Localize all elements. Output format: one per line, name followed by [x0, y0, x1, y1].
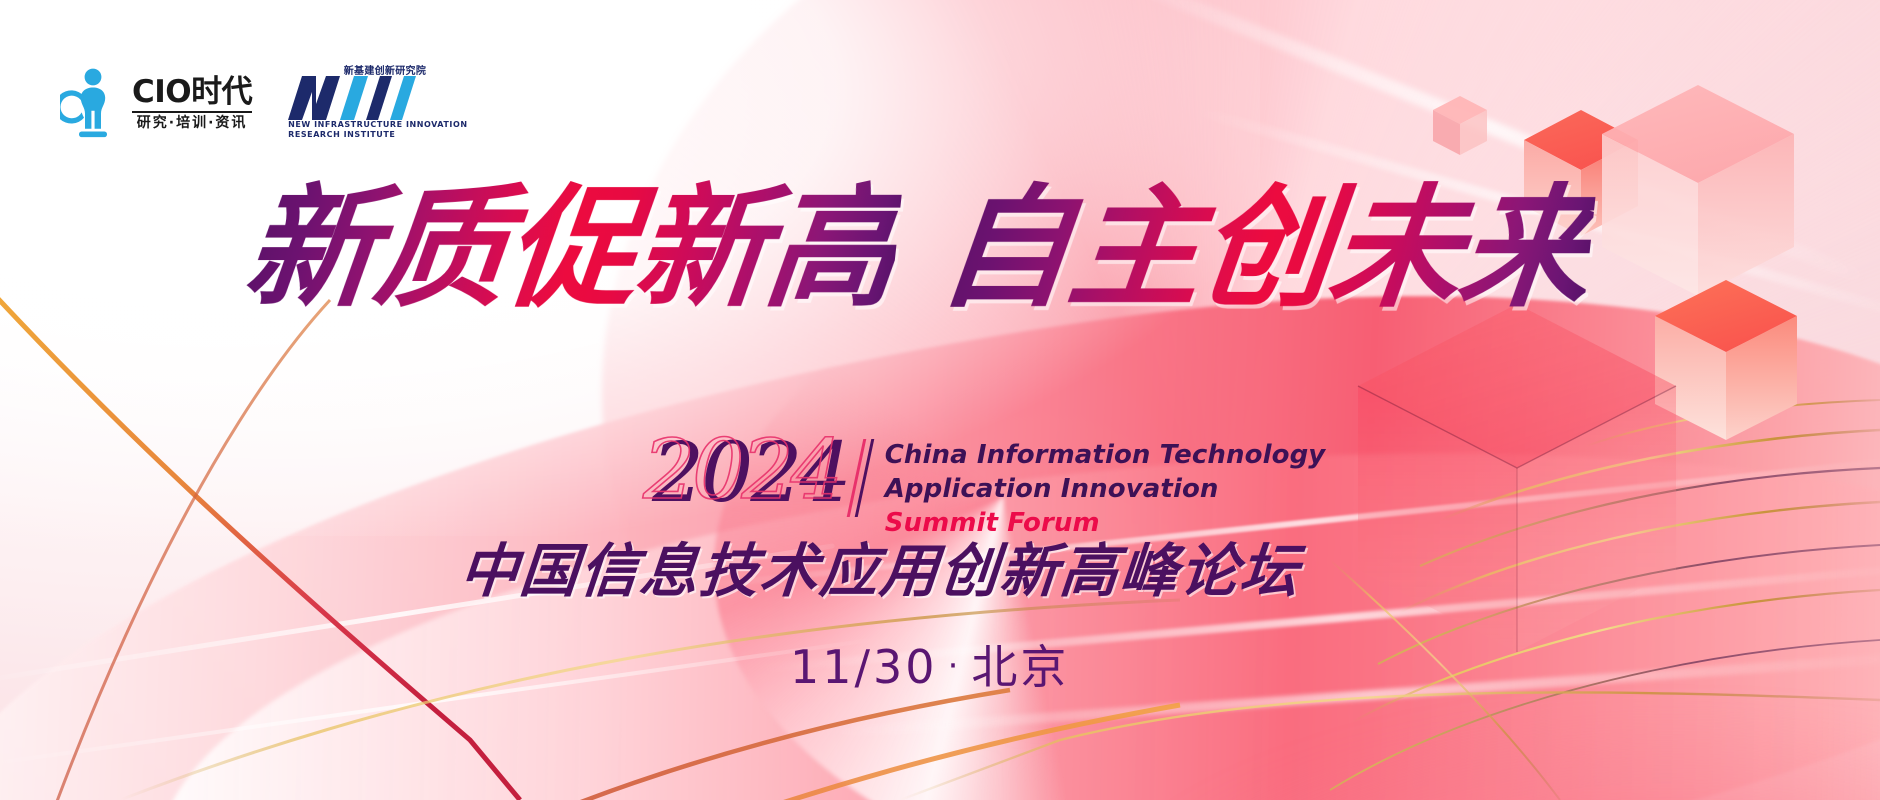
date-location: 11/30·北京 — [790, 644, 1069, 690]
event-city: 北京 — [971, 640, 1069, 694]
cio-subtitle: 研究·培训·资讯 — [137, 115, 248, 132]
niiri-english-name: NEW INFRASTRUCTURE INNOVATION RESEARCH I… — [288, 120, 467, 140]
niiri-english-line-1: NEW INFRASTRUCTURE INNOVATION — [288, 120, 467, 130]
logo-group: CIO时代 研究·培训·资讯 新基建创新研究院 NEW INFRASTRUCTU… — [60, 62, 426, 140]
cio-title: CIO时代 — [132, 77, 252, 108]
niiri-logo[interactable]: 新基建创新研究院 NEW INFRASTRUCTURE INNOVATION R… — [286, 62, 426, 140]
year-echo-outline: 2024 — [643, 432, 840, 511]
year-and-english-title: 2024 2024 China Information Technology A… — [652, 435, 1325, 540]
english-title-line-2: Application Innovation — [885, 473, 1326, 507]
niiri-english-line-2: RESEARCH INSTITUTE — [288, 130, 467, 140]
year-label: 2024 2024 — [652, 435, 849, 514]
event-banner: CIO时代 研究·培训·资讯 新基建创新研究院 NEW INFRASTRUCTU… — [0, 0, 1880, 800]
date-separator: · — [938, 646, 972, 686]
cio-times-logo[interactable]: CIO时代 研究·培训·资讯 — [60, 68, 252, 140]
chinese-subtitle: 中国信息技术应用创新高峰论坛 — [457, 542, 1302, 600]
headline: 新质促新高自主创未来 — [239, 183, 1597, 315]
niiri-wordmark-icon — [286, 74, 422, 122]
headline-part-2: 自主创未来 — [932, 172, 1598, 326]
headline-part-1: 新质促新高 — [238, 172, 904, 326]
year-divider-bars — [855, 439, 871, 517]
english-title-line-3: Summit Forum — [885, 507, 1326, 541]
person-icon — [60, 68, 126, 140]
cio-wordmark: CIO时代 研究·培训·资讯 — [132, 77, 252, 132]
english-title: China Information Technology Application… — [885, 435, 1326, 540]
event-date: 11/30 — [790, 640, 938, 694]
english-title-line-1: China Information Technology — [885, 439, 1326, 473]
cio-divider — [132, 111, 252, 113]
